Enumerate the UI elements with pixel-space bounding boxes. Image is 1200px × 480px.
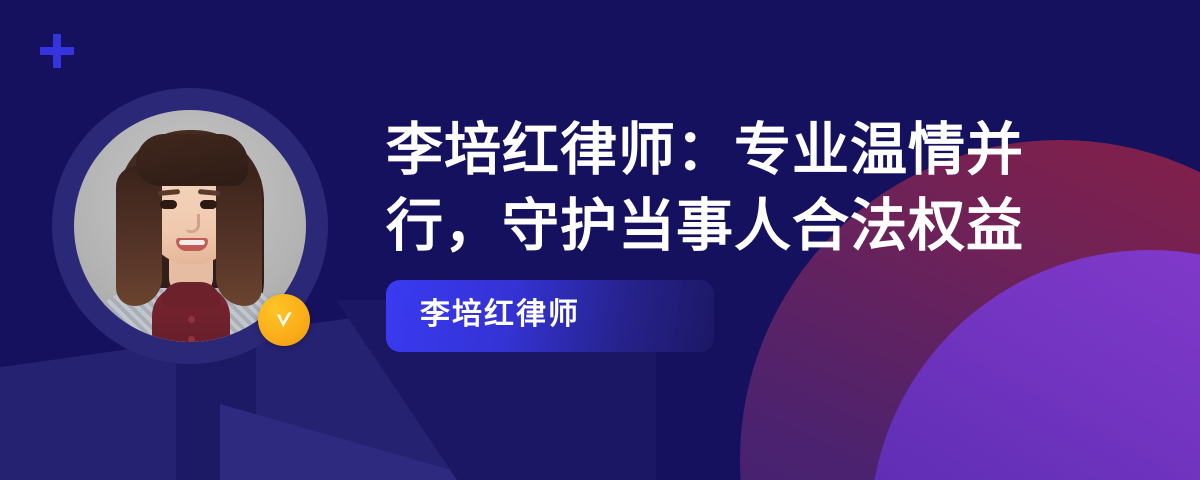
lawyer-name-pill[interactable]: 李培红律师 <box>386 280 714 352</box>
page-title: 李培红律师：专业温情并 行，守护当事人合法权益 <box>386 112 1086 264</box>
profile-banner: 李培红律师：专业温情并 行，守护当事人合法权益 李培红律师 <box>0 0 1200 480</box>
banner-content: 李培红律师：专业温情并 行，守护当事人合法权益 李培红律师 <box>386 112 1086 352</box>
plus-icon <box>40 34 74 68</box>
verified-badge-icon <box>258 294 310 346</box>
decorative-triangle-shape <box>220 404 480 480</box>
